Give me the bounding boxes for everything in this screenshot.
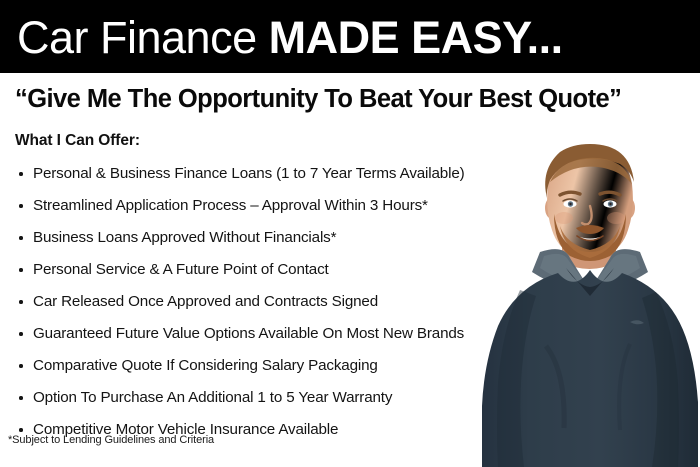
list-item-label: Personal & Business Finance Loans (1 to … [33, 165, 465, 182]
header-banner: Car Finance MADE EASY... [0, 0, 700, 73]
bullet-dot-icon [19, 428, 23, 432]
offer-list: Personal & Business Finance Loans (1 to … [15, 158, 465, 446]
list-item: Personal & Business Finance Loans (1 to … [15, 158, 465, 190]
list-item-label: Car Released Once Approved and Contracts… [33, 293, 378, 310]
portrait-illustration [480, 140, 700, 467]
bullet-dot-icon [19, 396, 23, 400]
page-title-light: Car Finance [17, 12, 269, 63]
bullet-dot-icon [19, 300, 23, 304]
bullet-dot-icon [19, 236, 23, 240]
list-item-label: Personal Service & A Future Point of Con… [33, 261, 329, 278]
list-item: Option To Purchase An Additional 1 to 5 … [15, 382, 465, 414]
page-title-bold: MADE EASY... [269, 12, 563, 63]
advertisement-flyer: Car Finance MADE EASY... “Give Me The Op… [0, 0, 700, 467]
list-item-label: Option To Purchase An Additional 1 to 5 … [33, 389, 392, 406]
list-item: Streamlined Application Process – Approv… [15, 190, 465, 222]
offer-heading: What I Can Offer: [15, 132, 140, 150]
list-item-label: Business Loans Approved Without Financia… [33, 229, 336, 246]
list-item-label: Streamlined Application Process – Approv… [33, 197, 428, 214]
headline-quote: “Give Me The Opportunity To Beat Your Be… [15, 83, 691, 115]
list-item: Car Released Once Approved and Contracts… [15, 286, 465, 318]
portrait-photo [480, 140, 700, 467]
list-item: Personal Service & A Future Point of Con… [15, 254, 465, 286]
list-item-label: Guaranteed Future Value Options Availabl… [33, 325, 464, 342]
page-title: Car Finance MADE EASY... [17, 9, 563, 66]
bullet-dot-icon [19, 364, 23, 368]
bullet-dot-icon [19, 332, 23, 336]
list-item-label: Comparative Quote If Considering Salary … [33, 357, 378, 374]
list-item: Guaranteed Future Value Options Availabl… [15, 318, 465, 350]
list-item: Comparative Quote If Considering Salary … [15, 350, 465, 382]
footnote-disclaimer: *Subject to Lending Guidelines and Crite… [8, 434, 214, 446]
bullet-dot-icon [19, 268, 23, 272]
list-item: Business Loans Approved Without Financia… [15, 222, 465, 254]
bullet-dot-icon [19, 172, 23, 176]
bullet-dot-icon [19, 204, 23, 208]
